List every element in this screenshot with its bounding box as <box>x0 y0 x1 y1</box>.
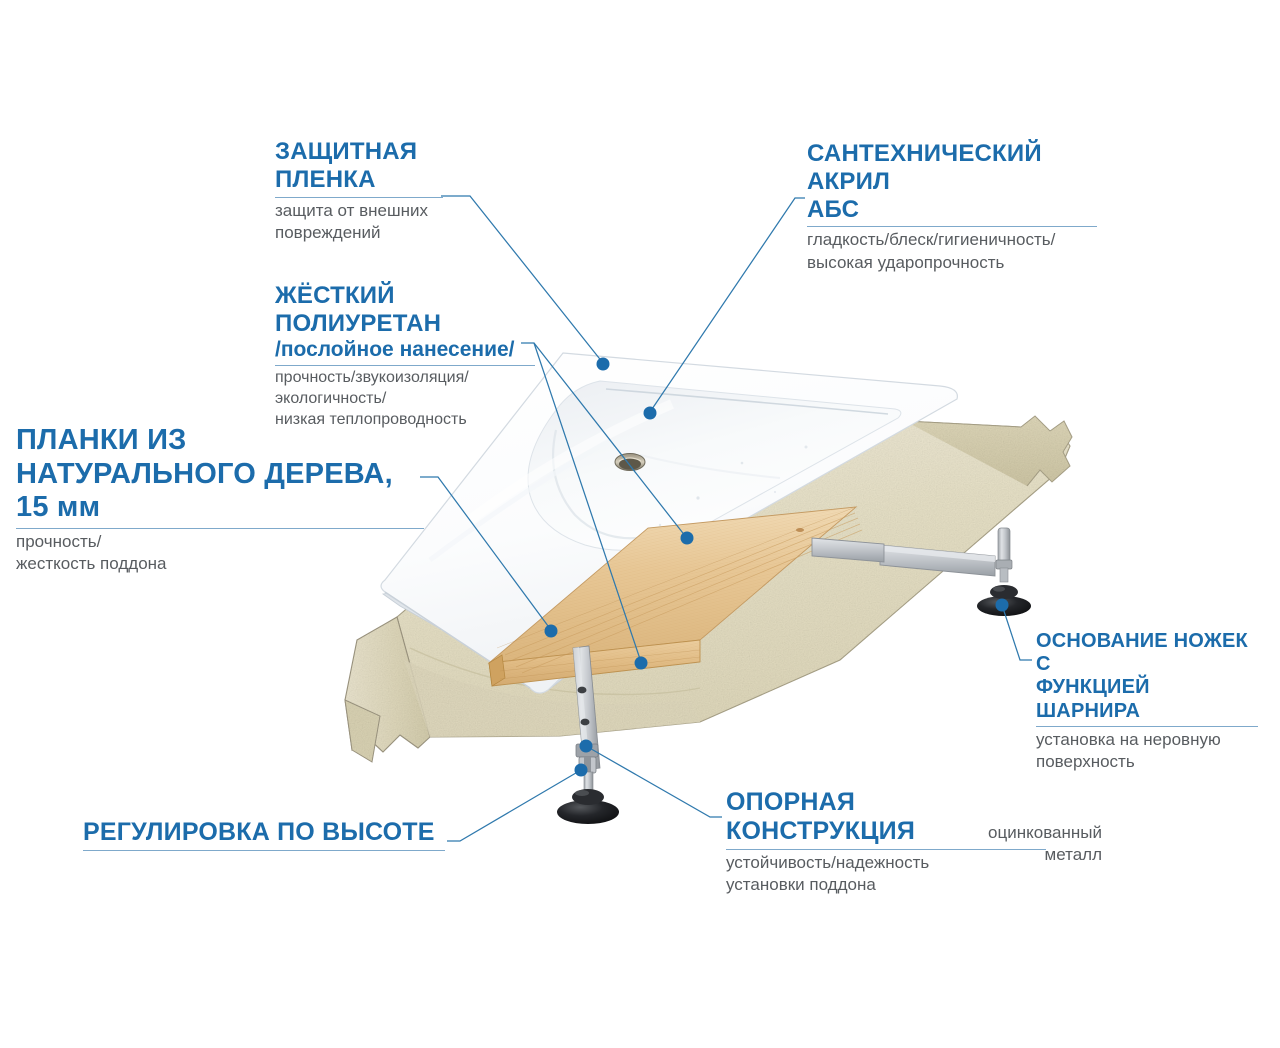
callout-sanitary-acrylic-title: САНТЕХНИЧЕСКИЙ АКРИЛ АБС <box>807 140 1097 223</box>
callout-sanitary-acrylic: САНТЕХНИЧЕСКИЙ АКРИЛ АБС гладкость/блеск… <box>807 140 1097 274</box>
callout-support-frame-material: оцинкованный металл <box>962 822 1102 866</box>
callout-height-adjustment-title: РЕГУЛИРОВКА ПО ВЫСОТЕ <box>83 818 445 847</box>
dot-sanitary-acrylic <box>644 407 657 420</box>
dot-leg-base <box>996 599 1009 612</box>
callout-leg-base-hinge-title: ОСНОВАНИЕ НОЖЕК С ФУНКЦИЕЙ ШАРНИРА <box>1036 630 1258 723</box>
callout-protective-film: ЗАЩИТНАЯ ПЛЕНКА защита от внешних повреж… <box>275 138 443 244</box>
callout-wood-slats-title: ПЛАНКИ ИЗ НАТУРАЛЬНОГО ДЕРЕВА, 15 мм <box>16 424 424 525</box>
callout-polyurethane-title: ЖЁСТКИЙ ПОЛИУРЕТАН <box>275 282 535 338</box>
callout-rule <box>83 850 445 851</box>
dot-polyurethane-upper <box>681 532 694 545</box>
callout-leg-base-hinge: ОСНОВАНИЕ НОЖЕК С ФУНКЦИЕЙ ШАРНИРА устан… <box>1036 630 1258 773</box>
callout-protective-film-title: ЗАЩИТНАЯ ПЛЕНКА <box>275 138 443 194</box>
callout-protective-film-desc: защита от внешних повреждений <box>275 200 443 244</box>
callout-rule <box>807 226 1097 227</box>
dot-protective-film <box>597 358 610 371</box>
callout-sanitary-acrylic-desc: гладкость/блеск/гигиеничность/ высокая у… <box>807 229 1097 273</box>
diagram-canvas: ЗАЩИТНАЯ ПЛЕНКА защита от внешних повреж… <box>0 0 1280 1048</box>
callout-support-frame-material-desc: оцинкованный металл <box>962 822 1102 866</box>
callout-polyurethane: ЖЁСТКИЙ ПОЛИУРЕТАН /послойное нанесение/… <box>275 282 535 430</box>
callout-rule <box>275 365 535 366</box>
callout-rule <box>1036 726 1258 727</box>
callout-wood-slats-desc: прочность/ жесткость поддона <box>16 531 424 575</box>
callout-leg-base-hinge-desc: установка на неровную поверхность <box>1036 729 1258 773</box>
drain-hole <box>615 454 645 471</box>
callout-rule <box>275 197 443 198</box>
callout-polyurethane-subtitle: /послойное нанесение/ <box>275 338 535 362</box>
dot-support-frame <box>580 740 593 753</box>
callout-polyurethane-desc: прочность/звукоизоляция/ экологичность/ … <box>275 368 535 430</box>
dot-height-adjust <box>575 764 588 777</box>
dot-wooden-slat <box>545 625 558 638</box>
callout-rule <box>16 528 424 529</box>
dot-polyurethane-lower <box>635 657 648 670</box>
callout-height-adjustment: РЕГУЛИРОВКА ПО ВЫСОТЕ <box>83 818 445 853</box>
callout-wood-slats: ПЛАНКИ ИЗ НАТУРАЛЬНОГО ДЕРЕВА, 15 мм про… <box>16 424 424 575</box>
